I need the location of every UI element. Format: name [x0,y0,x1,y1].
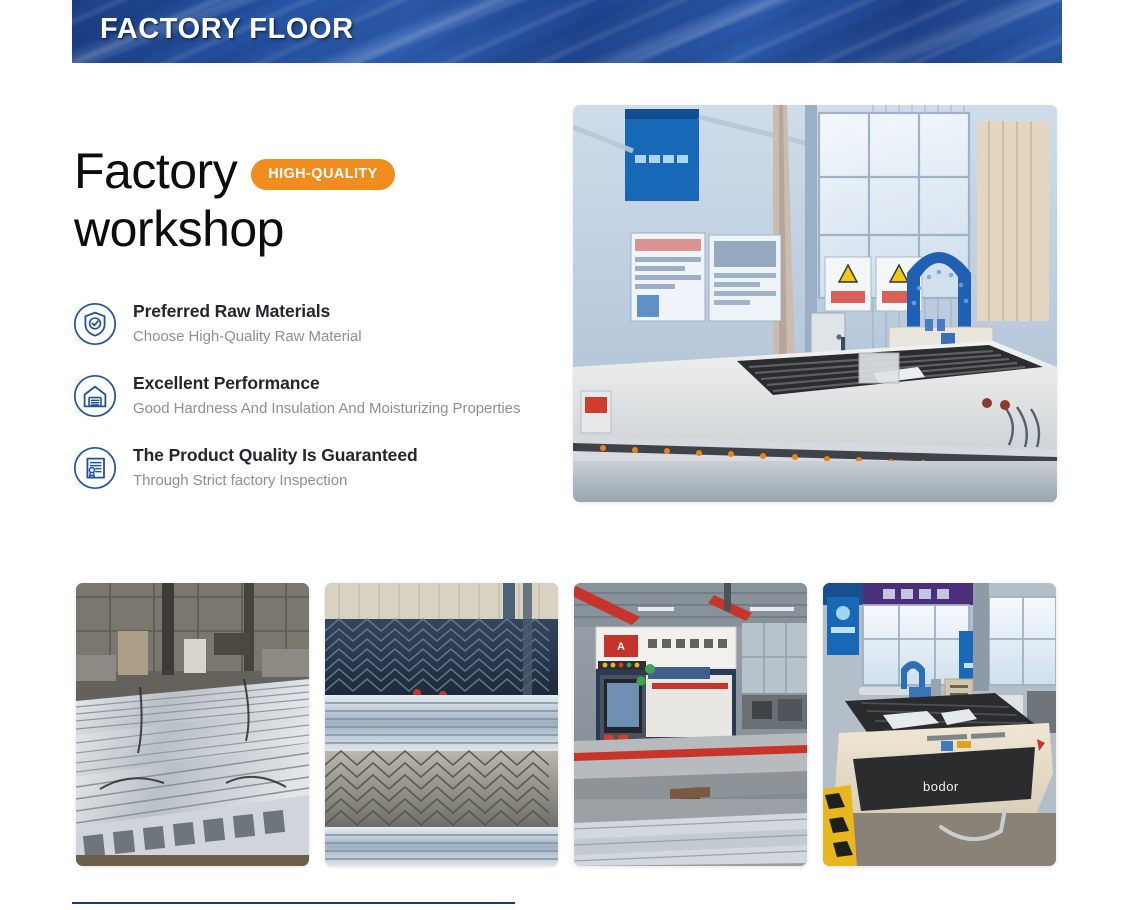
feature-item-excellent-performance: Excellent Performance Good Hardness And … [73,372,573,420]
feature-title: Preferred Raw Materials [133,300,362,324]
factory-floor-page: FACTORY FLOOR Factory HIGH-QUALITY works… [0,0,1133,910]
workshop-cnc-machine-photo [573,105,1057,502]
feature-subtitle: Through Strict factory Inspection [133,470,418,493]
feature-item-product-quality-guaranteed: The Product Quality Is Guaranteed Throug… [73,444,573,492]
svg-text:A: A [617,641,625,653]
feature-subtitle: Choose High-Quality Raw Material [133,326,362,349]
headline-first-row: Factory HIGH-QUALITY [74,142,544,200]
banner-title: FACTORY FLOOR [100,13,354,46]
feature-list: Preferred Raw Materials Choose High-Qual… [73,300,573,492]
page-title-line-1: Factory [74,142,237,200]
feature-title: Excellent Performance [133,372,520,396]
section-divider [72,902,515,904]
page-title-line-2: workshop [74,200,544,258]
laser-tube-cutting-machine-photo[interactable]: A [574,583,807,866]
section-banner: FACTORY FLOOR [72,0,1062,63]
galvanized-steel-profiles-photo[interactable] [76,583,309,866]
feature-text-group: The Product Quality Is Guaranteed Throug… [133,444,418,492]
status-badge: HIGH-QUALITY [251,159,395,190]
feature-text-group: Preferred Raw Materials Choose High-Qual… [133,300,362,348]
corrugated-sheet-stacks-photo[interactable] [325,583,558,866]
shield-check-icon [73,302,117,346]
bodor-fiber-laser-cutter-photo[interactable]: bodor [823,583,1056,866]
feature-text-group: Excellent Performance Good Hardness And … [133,372,520,420]
feature-title: The Product Quality Is Guaranteed [133,444,418,468]
thumbnail-gallery: A [76,583,1055,866]
svg-text:bodor: bodor [923,779,959,794]
feature-item-preferred-raw-materials: Preferred Raw Materials Choose High-Qual… [73,300,573,348]
feature-subtitle: Good Hardness And Insulation And Moistur… [133,398,520,421]
certificate-icon [73,446,117,490]
headline-block: Factory HIGH-QUALITY workshop [74,142,544,258]
warehouse-icon [73,374,117,418]
